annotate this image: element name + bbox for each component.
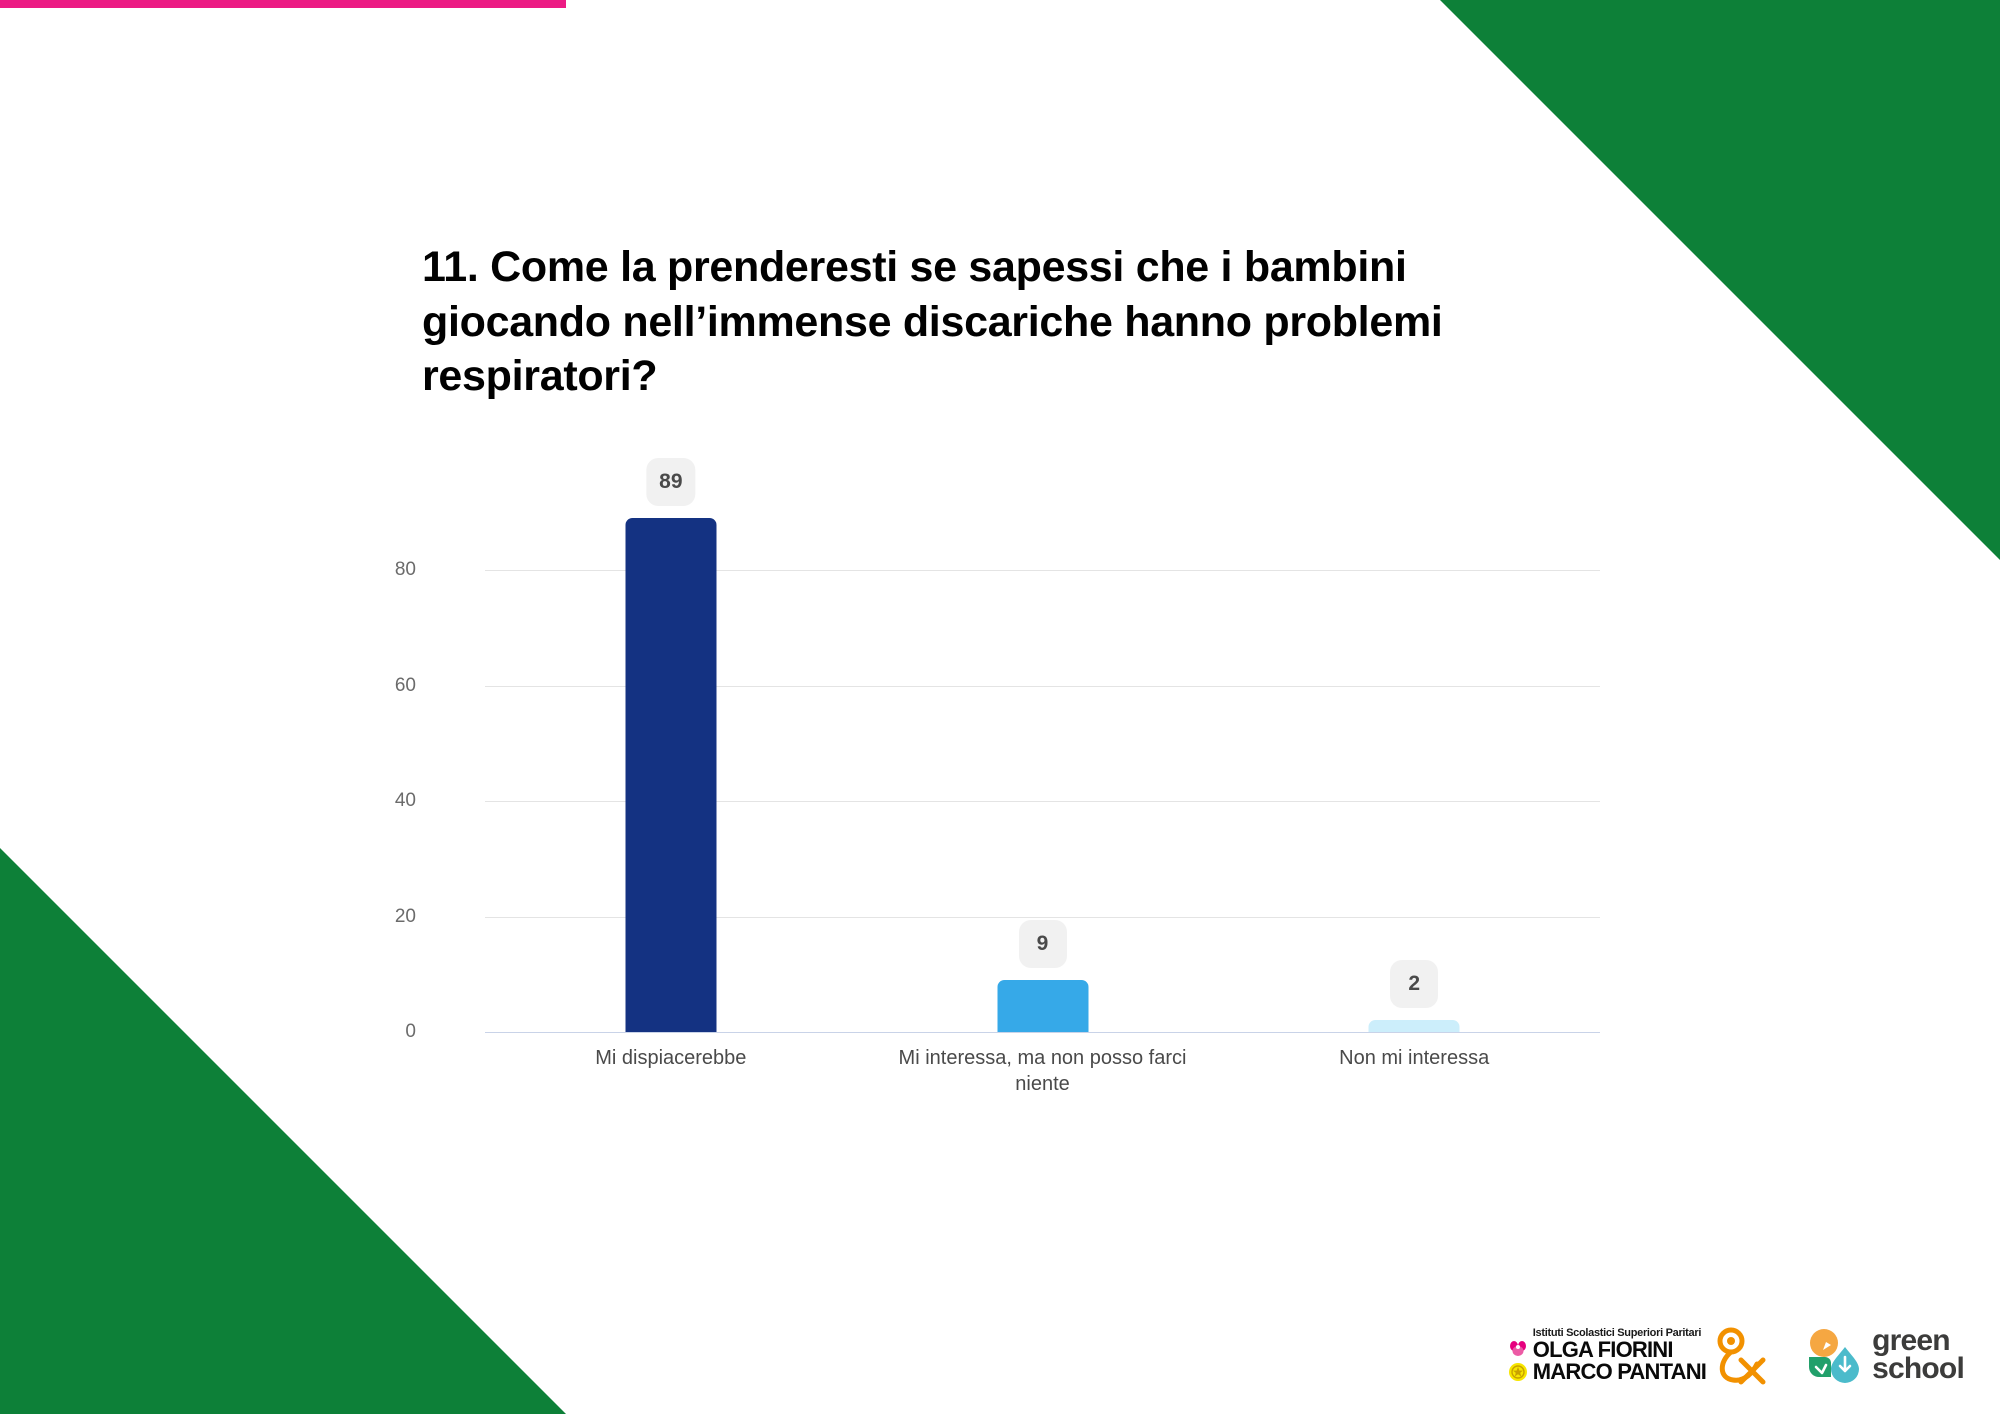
green-school-line1: green — [1872, 1327, 1964, 1356]
y-axis-tick-label: 40 — [356, 790, 416, 812]
chart-x-axis-labels: Mi dispiacerebbeMi interessa, ma non pos… — [485, 1045, 1600, 1097]
y-axis-tick-label: 20 — [356, 906, 416, 928]
bar-column[interactable]: 9 — [857, 455, 1229, 1032]
ampersand-icon — [1711, 1324, 1767, 1386]
x-axis-category-label: Mi interessa, ma non posso farci niente — [857, 1045, 1229, 1097]
bar[interactable] — [625, 518, 716, 1032]
y-axis-tick-label: 0 — [356, 1021, 416, 1043]
bar[interactable] — [1369, 1020, 1460, 1032]
page-title: 11. Come la prenderesti se sapessi che i… — [422, 240, 1582, 404]
bar-column[interactable]: 89 — [485, 455, 857, 1032]
y-axis-tick-label: 80 — [356, 559, 416, 581]
y-axis-tick-label: 60 — [356, 675, 416, 697]
x-axis-category-label: Non mi interessa — [1228, 1045, 1600, 1097]
bar-value-label: 89 — [646, 458, 695, 506]
olga-fiorini-marco-pantani-logo: Istituti Scolastici Superiori Paritari O… — [1508, 1324, 1767, 1386]
school-logo-text: Istituti Scolastici Superiori Paritari O… — [1533, 1327, 1706, 1383]
flower-icon — [1508, 1339, 1528, 1359]
bar[interactable] — [997, 980, 1088, 1032]
bar-column[interactable]: 2 — [1228, 455, 1600, 1032]
pink-accent-bar — [0, 0, 566, 8]
medal-icon — [1508, 1362, 1528, 1382]
bar-value-label: 2 — [1390, 960, 1438, 1008]
logo-group: Istituti Scolastici Superiori Paritari O… — [1508, 1324, 1964, 1386]
school-logo-line2: MARCO PANTANI — [1533, 1361, 1706, 1383]
green-school-logo-text: green school — [1872, 1327, 1964, 1384]
green-school-line2: school — [1872, 1355, 1964, 1384]
x-axis-category-label: Mi dispiacerebbe — [485, 1045, 857, 1097]
green-school-mark-icon — [1801, 1327, 1863, 1383]
chart-bars: 8992 — [485, 455, 1600, 1032]
bar-chart: 020406080 8992 Mi dispiacerebbeMi intere… — [420, 455, 1600, 1055]
bar-value-label: 9 — [1019, 920, 1067, 968]
gridline — [485, 1032, 1600, 1033]
green-school-logo: green school — [1801, 1327, 1964, 1384]
slide-canvas: 11. Come la prenderesti se sapessi che i… — [0, 0, 2000, 1414]
school-crest-icons — [1508, 1328, 1528, 1382]
school-logo-line1: OLGA FIORINI — [1533, 1339, 1706, 1361]
